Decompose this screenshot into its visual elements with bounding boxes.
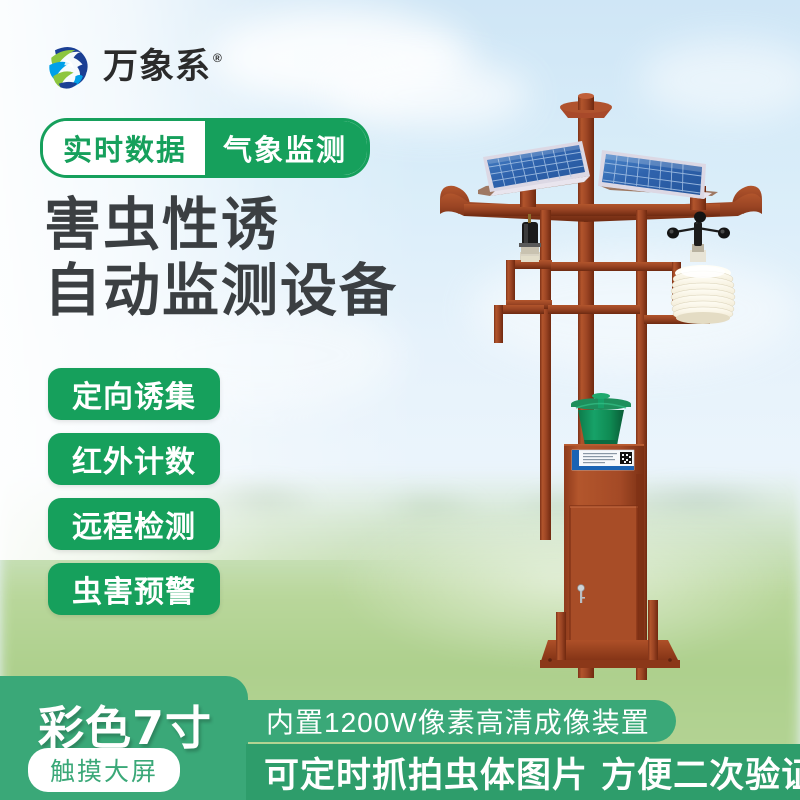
globe-ribbon-logo-icon: [42, 40, 94, 94]
camera-spec-bar: 内置1200W像素高清成像装置: [246, 700, 676, 742]
badge-realtime-data: 实时数据: [43, 121, 205, 175]
feature-pill-infrared-counting: 红外计数: [48, 433, 220, 485]
feature-pill-pest-alert: 虫害预警: [48, 563, 220, 615]
page-title: 害虫性诱 自动监测设备: [44, 192, 398, 324]
cloud: [470, 250, 800, 370]
feature-pill-remote-detection: 远程检测: [48, 498, 220, 550]
feature-list: 定向诱集 红外计数 远程检测 虫害预警: [48, 368, 220, 615]
product-marketing-poster: 万象系 ® 实时数据 气象监测 害虫性诱 自动监测设备 定向诱集 红外计数 远程…: [0, 0, 800, 800]
registered-trademark: ®: [213, 51, 222, 65]
brand-name: 万象系: [103, 50, 211, 85]
capture-feature-text: 可定时抓拍虫体图片 方便二次验证: [246, 747, 800, 798]
top-badge-bar: 实时数据 气象监测: [40, 118, 370, 178]
capture-feature-bar: 可定时抓拍虫体图片 方便二次验证: [246, 744, 800, 800]
brand-logo: 万象系 ®: [42, 40, 222, 94]
headline-line-2: 自动监测设备: [44, 258, 398, 324]
touchscreen-badge: 触摸大屏: [28, 748, 180, 792]
feature-pill-directional-trapping: 定向诱集: [48, 368, 220, 420]
headline-line-1: 害虫性诱: [44, 192, 398, 258]
camera-spec-text: 内置1200W像素高清成像装置: [246, 701, 650, 741]
badge-weather-monitoring: 气象监测: [205, 121, 367, 175]
